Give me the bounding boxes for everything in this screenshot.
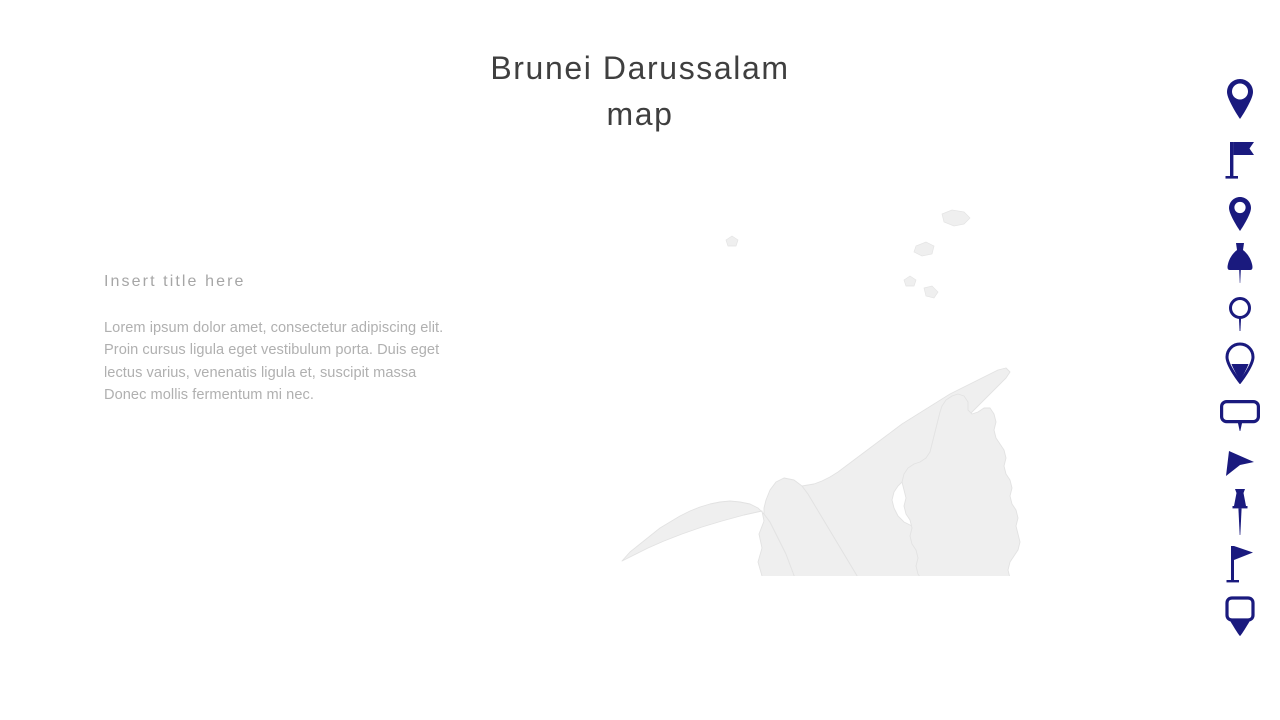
- callout-rounded-icon[interactable]: [1216, 400, 1264, 432]
- cursor-arrow-icon[interactable]: [1216, 450, 1264, 478]
- page-title: Brunei Darussalam map: [440, 45, 840, 137]
- square-pin-outline-icon[interactable]: [1216, 596, 1264, 638]
- body-heading: Insert title here: [104, 271, 464, 293]
- map-islet-2: [914, 242, 934, 256]
- pushpin-side-icon[interactable]: [1216, 488, 1264, 536]
- map-islet-5: [726, 236, 738, 246]
- flag-pennant-icon[interactable]: [1216, 544, 1264, 586]
- pushpin-front-icon[interactable]: [1216, 242, 1264, 284]
- brunei-map: [612, 196, 1072, 576]
- circle-pin-outline-icon[interactable]: [1216, 296, 1264, 332]
- map-islet-1: [942, 210, 970, 226]
- text-content-block: Insert title here Lorem ipsum dolor amet…: [104, 271, 464, 407]
- map-pin-ring-icon[interactable]: [1216, 78, 1264, 120]
- map-pin-outline-icon[interactable]: [1216, 342, 1264, 384]
- flag-swallowtail-icon[interactable]: [1216, 140, 1264, 182]
- body-paragraph: Lorem ipsum dolor amet, consectetur adip…: [104, 317, 452, 407]
- map-islet-4: [924, 286, 938, 298]
- map-islet-3: [904, 276, 916, 286]
- marker-icon-rail: [1216, 78, 1264, 640]
- map-pin-small-icon[interactable]: [1216, 196, 1264, 232]
